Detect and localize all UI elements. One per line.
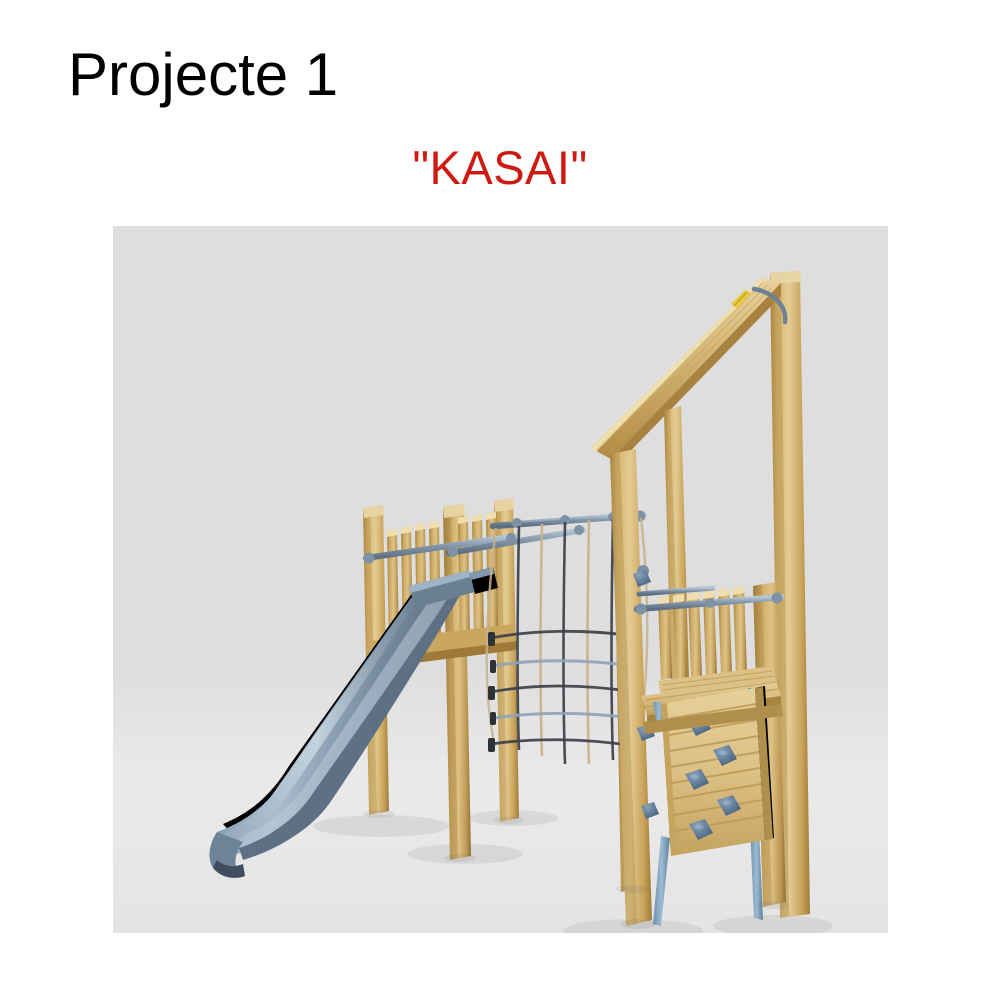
playground-image-panel (113, 226, 888, 933)
page-title: Projecte 1 (68, 42, 338, 108)
slide-canvas: Projecte 1 "KASAI" (0, 0, 1000, 1000)
playground-illustration (113, 226, 888, 933)
project-name-subtitle: "KASAI" (0, 142, 1000, 194)
